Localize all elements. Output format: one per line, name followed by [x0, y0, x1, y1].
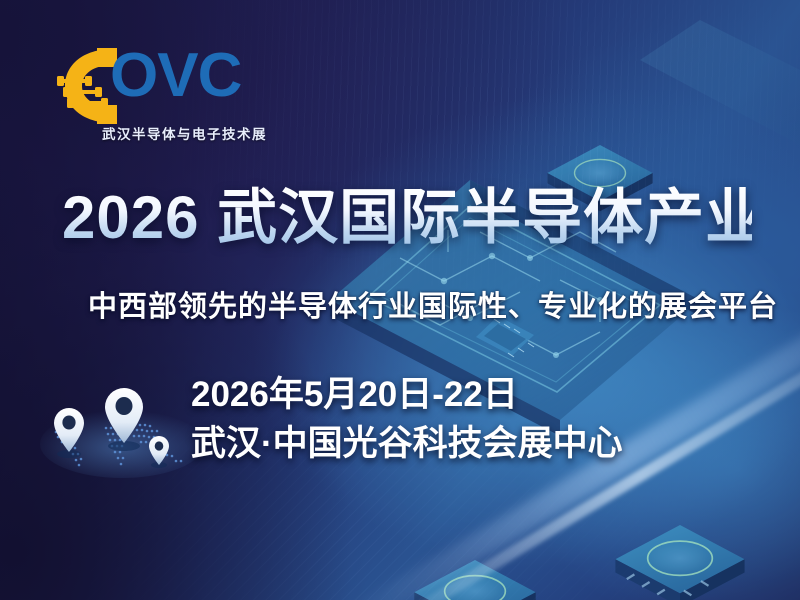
ovc-logo[interactable]: OVC 武汉半导体与电子技术展 — [57, 45, 247, 150]
event-venue: 武汉·中国光谷科技会展中心 — [191, 423, 623, 464]
logo-subtitle: 武汉半导体与电子技术展 — [102, 123, 267, 143]
event-date: 2026年5月20日-22日 — [191, 374, 623, 415]
event-info-block: 2026年5月20日-22日 武汉·中国光谷科技会展中心 — [191, 374, 623, 465]
logo-wordmark: OVC — [110, 45, 241, 107]
page-title: 2026 武汉国际半导体产业博览会 — [62, 186, 752, 250]
world-map-pins-group — [40, 358, 205, 498]
page-subtitle: 中西部领先的半导体行业国际性、专业化的展会平台 — [88, 292, 728, 324]
event-banner: OVC 武汉半导体与电子技术展 2026 武汉国际半导体产业博览会 中西部领先的… — [0, 0, 800, 600]
